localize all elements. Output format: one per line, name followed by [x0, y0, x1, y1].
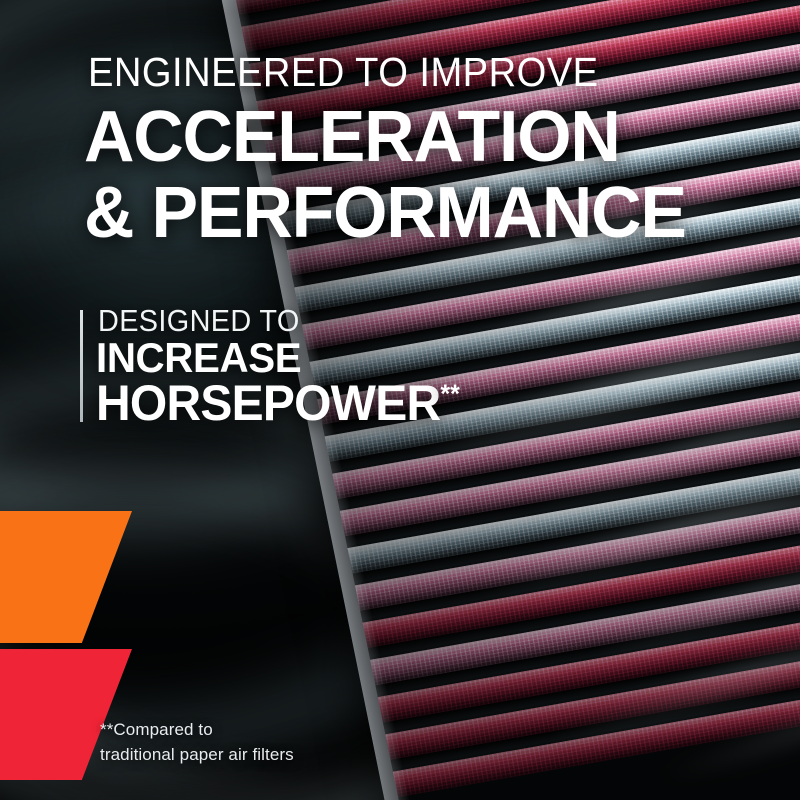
eyebrow-heading: ENGINEERED TO IMPROVE	[88, 52, 599, 93]
sub-eyebrow-heading: DESIGNED TO	[98, 305, 300, 336]
footnote-line-1: **Compared to	[100, 718, 294, 743]
vertical-rule-divider	[80, 310, 83, 422]
footnote-text: **Compared to traditional paper air filt…	[100, 718, 294, 767]
sub-headline-line-2: HORSEPOWER**	[96, 378, 460, 428]
main-headline: ACCELERATION & PERFORMANCE	[84, 103, 686, 248]
poster-canvas: ENGINEERED TO IMPROVE ACCELERATION & PER…	[0, 0, 800, 800]
headline-line-2: & PERFORMANCE	[84, 179, 686, 247]
footnote-line-2: traditional paper air filters	[100, 743, 294, 768]
footnote-marker: **	[440, 378, 459, 408]
sub-headline-word: HORSEPOWER	[96, 375, 440, 431]
sub-headline-line-1: INCREASE	[96, 337, 301, 379]
headline-line-1: ACCELERATION	[84, 97, 620, 177]
